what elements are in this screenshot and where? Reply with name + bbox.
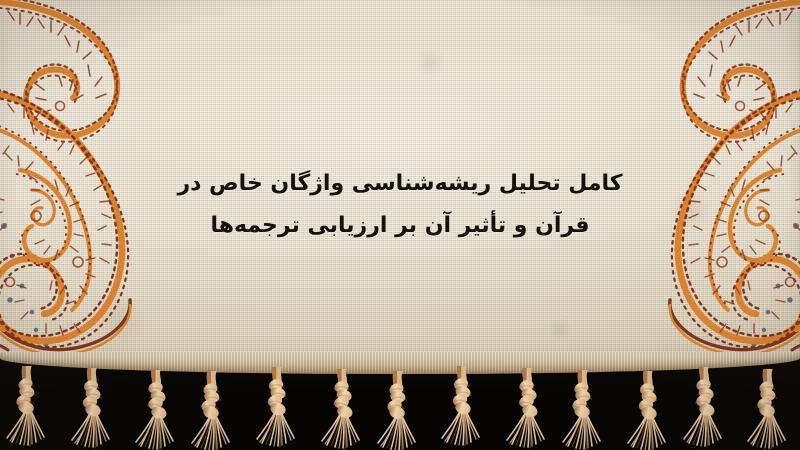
title-line-2: قرآن و تأثیر آن بر ارزیابی ترجمه‌ها xyxy=(0,205,800,247)
tassel xyxy=(186,371,238,450)
title-line-1: کامل تحلیل ریشه‌شناسی واژگان خاص در xyxy=(0,163,800,205)
tassel xyxy=(742,369,794,450)
tassel xyxy=(1,366,53,450)
tassel xyxy=(501,368,553,450)
tassel xyxy=(557,370,609,450)
tassel xyxy=(130,370,182,450)
tassel xyxy=(622,371,674,450)
slide-title: کامل تحلیل ریشه‌شناسی واژگان خاص در قرآن… xyxy=(0,163,800,247)
tassel xyxy=(678,367,730,450)
tassel xyxy=(316,369,368,450)
tassel xyxy=(66,368,118,450)
tassel xyxy=(372,371,424,450)
tassel xyxy=(251,367,303,450)
tassel xyxy=(436,366,488,450)
tassel-fringe xyxy=(0,366,800,450)
slide-canvas: کامل تحلیل ریشه‌شناسی واژگان خاص در قرآن… xyxy=(0,0,800,450)
